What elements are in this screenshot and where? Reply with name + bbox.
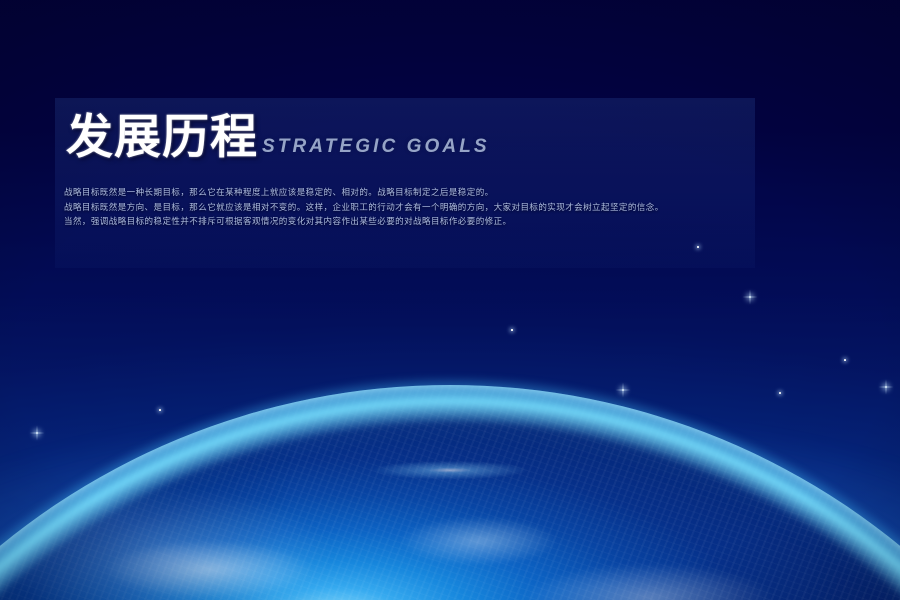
- description-line: 当然，强调战略目标的稳定性并不排斥可根据客观情况的变化对其内容作出某些必要的对战…: [64, 215, 754, 230]
- scene-vignette: [0, 0, 900, 600]
- banner-heading: 发展历程 STRATEGIC GOALS: [66, 114, 490, 161]
- banner-stage: 发展历程 STRATEGIC GOALS 战略目标既然是一种长期目标，那么它在某…: [0, 0, 900, 600]
- page-subtitle: STRATEGIC GOALS: [262, 136, 490, 158]
- banner-description: 战略目标既然是一种长期目标，那么它在某种程度上就应该是稳定的、相对的。战略目标制…: [64, 186, 754, 230]
- description-line: 战略目标既然是方向、是目标，那么它就应该是相对不变的。这样，企业职工的行动才会有…: [64, 201, 754, 216]
- description-line: 战略目标既然是一种长期目标，那么它在某种程度上就应该是稳定的、相对的。战略目标制…: [64, 186, 754, 201]
- page-title: 发展历程: [66, 114, 258, 161]
